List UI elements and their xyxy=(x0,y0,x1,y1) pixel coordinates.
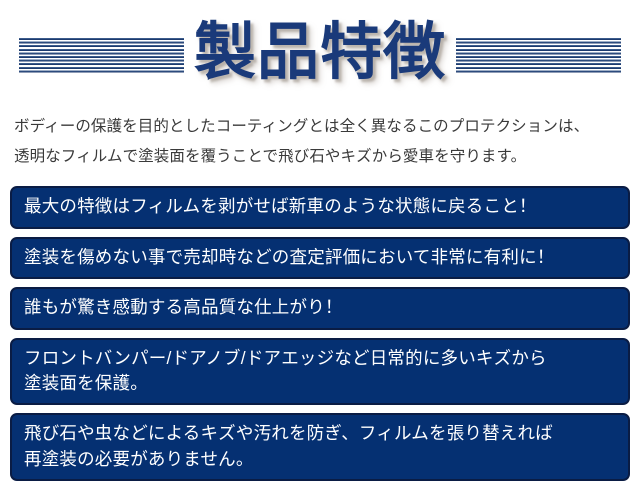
feature-line: フロントバンパー/ドアノブ/ドアエッジなど日常的に多いキズから xyxy=(24,346,616,371)
feature-line: 再塗装の必要がありません。 xyxy=(24,447,616,472)
intro-line: 透明なフィルムで塗装面を覆うことで飛び石やキズから愛車を守ります。 xyxy=(14,142,626,172)
feature-item: 塗装を傷めない事で売却時などの査定評価において非常に有利に！ xyxy=(10,237,630,279)
product-features-banner: 製品特徴 ボディーの保護を目的としたコーティングとは全く異なるこのプロテクション… xyxy=(0,0,640,492)
feature-item: 飛び石や虫などによるキズや汚れを防ぎ、フィルムを張り替えれば 再塗装の必要があり… xyxy=(10,413,630,481)
striped-rule-right-icon xyxy=(456,38,621,74)
striped-rule-left-icon xyxy=(19,38,184,74)
feature-line: 最大の特徴はフィルムを剥がせば新車のような状態に戻ること！ xyxy=(24,194,616,219)
feature-item: フロントバンパー/ドアノブ/ドアエッジなど日常的に多いキズから 塗装面を保護。 xyxy=(10,338,630,406)
feature-line: 塗装面を保護。 xyxy=(24,371,616,396)
feature-line: 塗装を傷めない事で売却時などの査定評価において非常に有利に！ xyxy=(24,245,616,270)
intro-line: ボディーの保護を目的としたコーティングとは全く異なるこのプロテクションは、 xyxy=(14,112,626,142)
feature-item: 最大の特徴はフィルムを剥がせば新車のような状態に戻ること！ xyxy=(10,186,630,228)
feature-line: 誰もが驚き感動する高品質な仕上がり！ xyxy=(24,295,616,320)
intro-paragraph: ボディーの保護を目的としたコーティングとは全く異なるこのプロテクションは、 透明… xyxy=(14,112,626,172)
banner-header: 製品特徴 xyxy=(0,0,640,112)
feature-item: 誰もが驚き感動する高品質な仕上がり！ xyxy=(10,287,630,329)
feature-list: 最大の特徴はフィルムを剥がせば新車のような状態に戻ること！ 塗装を傷めない事で売… xyxy=(10,186,630,481)
feature-line: 飛び石や虫などによるキズや汚れを防ぎ、フィルムを張り替えれば xyxy=(24,421,616,446)
page-title: 製品特徴 xyxy=(190,22,450,90)
